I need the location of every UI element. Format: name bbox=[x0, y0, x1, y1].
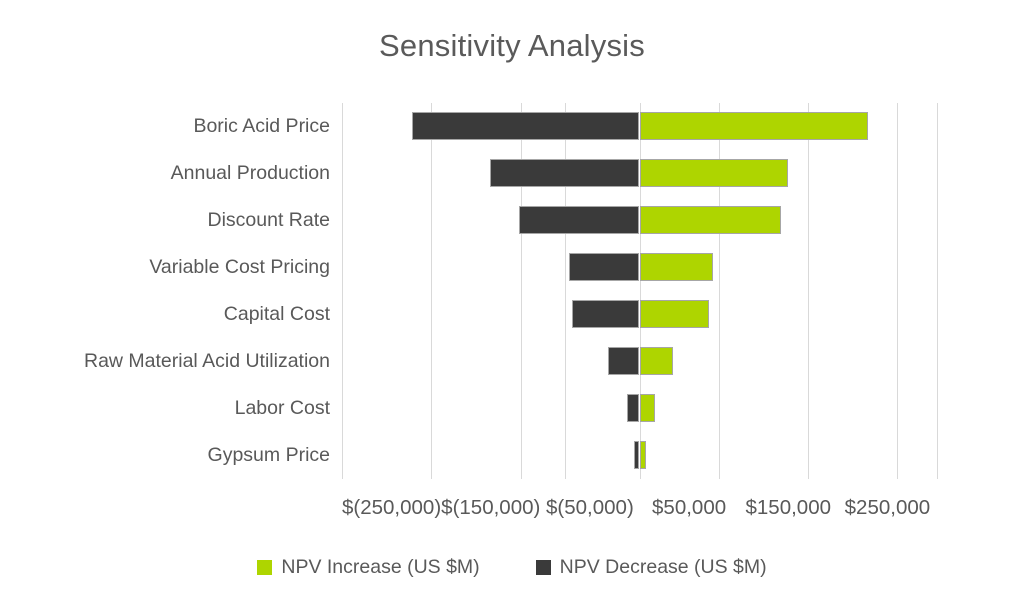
bar-row[interactable] bbox=[342, 432, 937, 479]
gridline-8 bbox=[937, 103, 938, 479]
bar-row[interactable] bbox=[342, 338, 937, 385]
bar-segment-npv-increase[interactable] bbox=[640, 347, 674, 375]
plot-area bbox=[342, 103, 937, 479]
legend-item[interactable]: NPV Decrease (US $M) bbox=[536, 556, 767, 579]
y-axis-category-label: Capital Cost bbox=[0, 291, 330, 338]
y-axis-category-label: Labor Cost bbox=[0, 385, 330, 432]
sensitivity-analysis-chart: Sensitivity Analysis Boric Acid PriceAnn… bbox=[0, 0, 1024, 614]
bar-segment-npv-increase[interactable] bbox=[640, 253, 713, 281]
bar-row[interactable] bbox=[342, 244, 937, 291]
bar-segment-npv-increase[interactable] bbox=[640, 206, 782, 234]
bar-row[interactable] bbox=[342, 291, 937, 338]
x-axis-tick-label: $50,000 bbox=[652, 496, 726, 520]
y-axis-category-label: Variable Cost Pricing bbox=[0, 244, 330, 291]
y-axis-category-label: Annual Production bbox=[0, 150, 330, 197]
bar-row[interactable] bbox=[342, 150, 937, 197]
y-axis-category-label: Raw Material Acid Utilization bbox=[0, 338, 330, 385]
bar-segment-npv-decrease[interactable] bbox=[569, 253, 639, 281]
bar-segment-npv-increase[interactable] bbox=[640, 441, 647, 469]
legend-swatch-icon bbox=[257, 560, 272, 575]
bar-segment-npv-decrease[interactable] bbox=[608, 347, 640, 375]
bar-row[interactable] bbox=[342, 385, 937, 432]
x-axis-tick-label: $250,000 bbox=[845, 496, 931, 520]
x-axis-tick-label: $(50,000) bbox=[546, 496, 634, 520]
x-axis-tick-label: $150,000 bbox=[745, 496, 831, 520]
bar-segment-npv-decrease[interactable] bbox=[412, 112, 639, 140]
chart-legend: NPV Increase (US $M)NPV Decrease (US $M) bbox=[0, 556, 1024, 579]
legend-label: NPV Decrease (US $M) bbox=[560, 556, 767, 579]
legend-label: NPV Increase (US $M) bbox=[281, 556, 479, 579]
y-axis-category-label: Discount Rate bbox=[0, 197, 330, 244]
x-axis-tick-label: $(250,000) bbox=[342, 496, 441, 520]
bar-segment-npv-increase[interactable] bbox=[640, 394, 656, 422]
bar-segment-npv-decrease[interactable] bbox=[627, 394, 640, 422]
bar-segment-npv-decrease[interactable] bbox=[572, 300, 639, 328]
x-axis-tick-label: $(150,000) bbox=[441, 496, 540, 520]
bar-row[interactable] bbox=[342, 197, 937, 244]
chart-title: Sensitivity Analysis bbox=[0, 28, 1024, 64]
bar-segment-npv-decrease[interactable] bbox=[519, 206, 640, 234]
x-axis-tick-labels: $(250,000)$(150,000)$(50,000)$50,000$150… bbox=[0, 496, 1024, 530]
bar-segment-npv-increase[interactable] bbox=[640, 112, 868, 140]
y-axis-category-labels: Boric Acid PriceAnnual ProductionDiscoun… bbox=[0, 103, 330, 479]
y-axis-category-label: Boric Acid Price bbox=[0, 103, 330, 150]
bar-segment-npv-increase[interactable] bbox=[640, 159, 789, 187]
y-axis-category-label: Gypsum Price bbox=[0, 432, 330, 479]
legend-item[interactable]: NPV Increase (US $M) bbox=[257, 556, 479, 579]
bar-segment-npv-decrease[interactable] bbox=[490, 159, 640, 187]
legend-swatch-icon bbox=[536, 560, 551, 575]
bar-segment-npv-increase[interactable] bbox=[640, 300, 709, 328]
bar-row[interactable] bbox=[342, 103, 937, 150]
